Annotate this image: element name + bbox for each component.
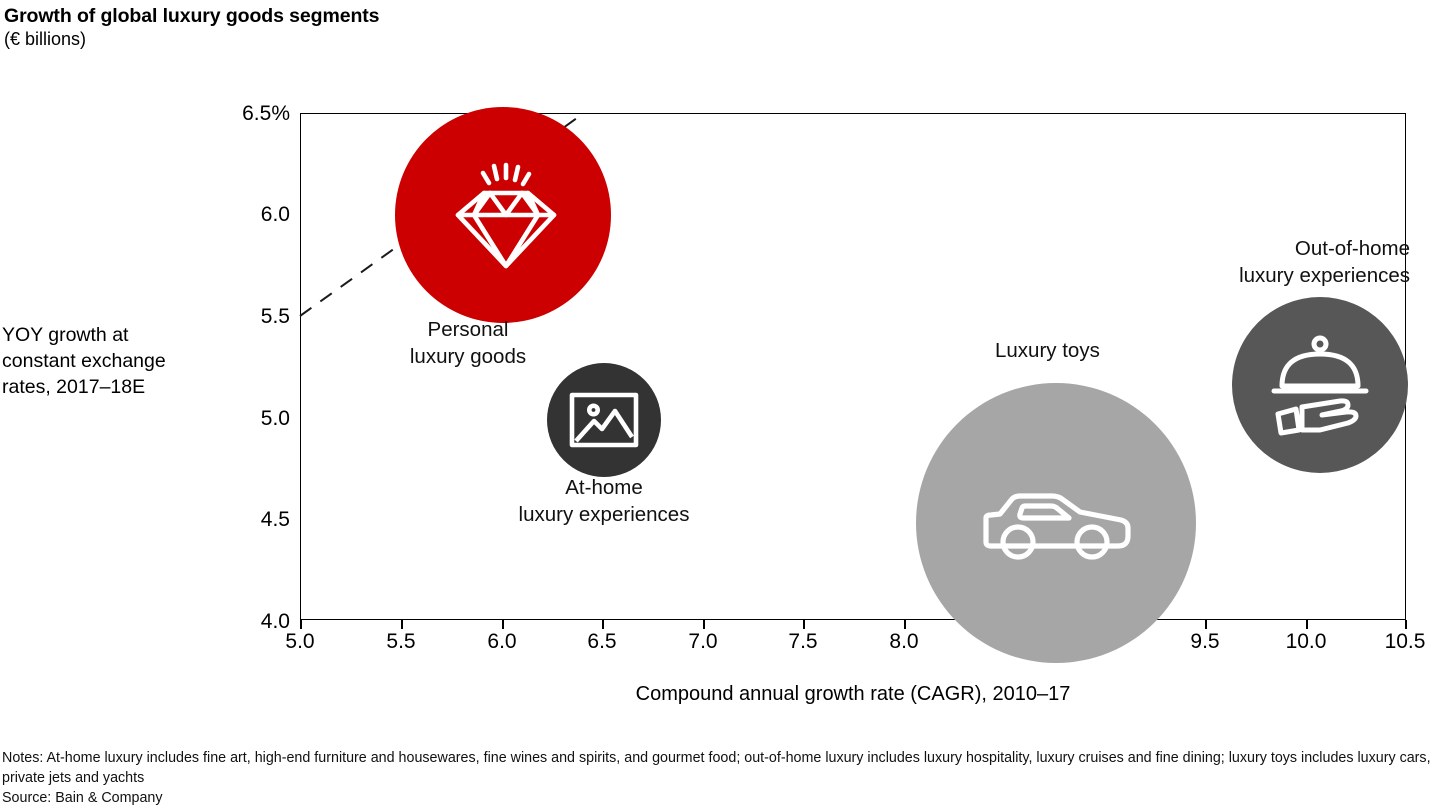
bubble-label-personal-luxury-goods: Personal luxury goods — [358, 316, 578, 370]
bubble-label-luxury-toys: Luxury toys — [995, 337, 1225, 364]
bubble-out-of-home-luxury-experiences[interactable] — [1232, 297, 1408, 473]
sports-car-icon — [976, 484, 1136, 562]
footnote-source: Source: Bain & Company — [2, 788, 1438, 808]
bubble-luxury-toys[interactable] — [916, 383, 1196, 663]
bubble-chart: YOY growth at constant exchange rates, 2… — [0, 0, 1440, 810]
bubble-label-at-home-luxury-experiences: At-home luxury experiences — [484, 474, 724, 528]
footnote-notes: Notes: At-home luxury includes fine art,… — [2, 748, 1438, 788]
chart-footnotes: Notes: At-home luxury includes fine art,… — [2, 748, 1438, 808]
bubble-at-home-luxury-experiences[interactable] — [547, 363, 661, 477]
bubble-personal-luxury-goods[interactable] — [395, 107, 611, 323]
x-axis-title: Compound annual growth rate (CAGR), 2010… — [300, 683, 1406, 706]
picture-icon — [569, 392, 639, 448]
cloche-service-icon — [1268, 334, 1372, 436]
diamond-icon — [441, 157, 565, 273]
bubble-label-out-of-home-luxury-experiences: Out-of-home luxury experiences — [1162, 235, 1410, 289]
